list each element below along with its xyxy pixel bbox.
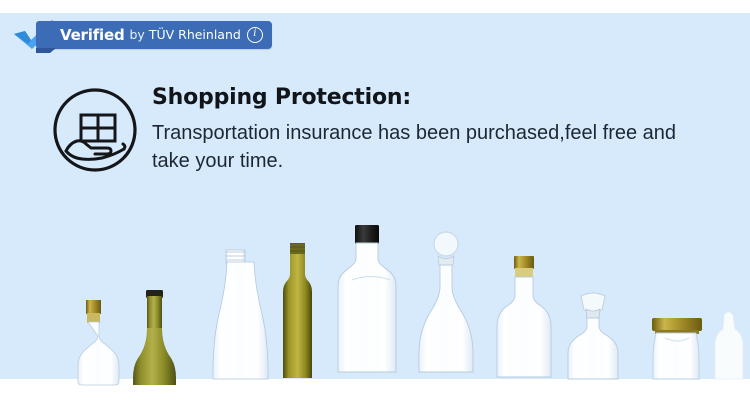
shopping-protection-banner: Verified by TÜV Rheinland i Shopping Pro…: [0, 0, 750, 407]
verified-label: Verified: [60, 28, 124, 43]
page-title: Shopping Protection:: [152, 84, 712, 112]
badge-brand-label: TÜV Rheinland: [149, 29, 241, 42]
info-icon[interactable]: i: [247, 27, 263, 43]
hand-holding-package-icon: [52, 87, 138, 173]
badge-by-label: by: [129, 29, 144, 42]
shopping-protection-text: Shopping Protection: Transportation insu…: [152, 84, 712, 175]
white-shelf-surface: [0, 379, 750, 407]
badge-ribbon: Verified by TÜV Rheinland i: [36, 21, 272, 49]
banner-background: [0, 13, 750, 379]
verified-by-tuv-rheinland-badge[interactable]: Verified by TÜV Rheinland i: [12, 20, 272, 50]
shopping-protection-body: Transportation insurance has been purcha…: [152, 119, 712, 176]
shopping-protection-block: Shopping Protection: Transportation insu…: [52, 84, 712, 175]
